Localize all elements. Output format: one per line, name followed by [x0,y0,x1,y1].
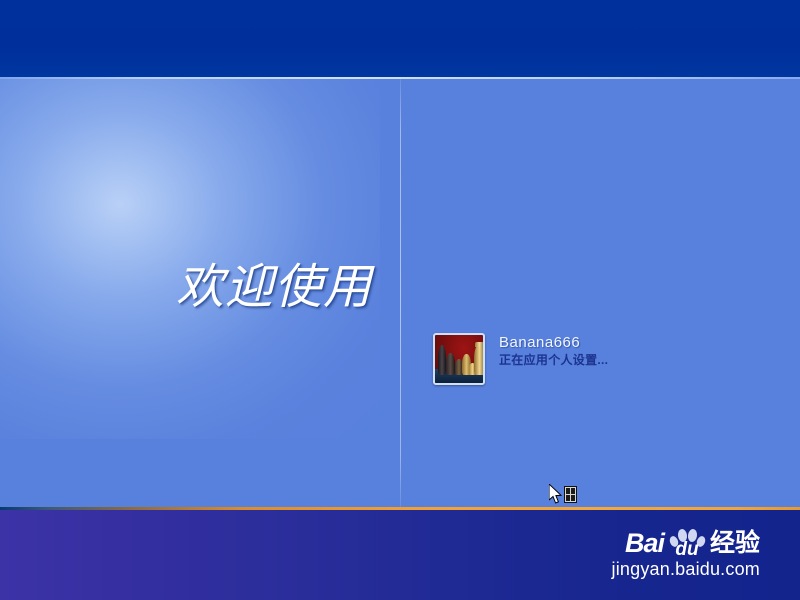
user-text-block: Banana666 正在应用个人设置... [499,333,608,367]
vertical-divider-line [400,79,401,507]
watermark-url: jingyan.baidu.com [612,559,761,579]
top-band [0,0,800,77]
watermark-brand-mark: du [674,541,700,558]
watermark-logo-row: Bai du 经验 [612,528,761,558]
user-status-label: 正在应用个人设置... [499,353,608,367]
user-avatar[interactable] [433,333,485,385]
chess-piece-icon [438,345,446,375]
watermark-brand-latin: Bai [625,530,664,557]
chess-piece-icon [474,344,485,375]
baidu-watermark: Bai du 经验 jingyan.baidu.com [612,528,761,579]
chess-king-crown-icon [475,342,484,347]
welcome-heading: 欢迎使用 [0,259,390,317]
chess-piece-icon [446,353,455,375]
user-name-label: Banana666 [499,334,608,351]
watermark-brand-cn: 经验 [710,530,760,556]
logon-desktop-area: 欢迎使用 Banana666 正在应用个人设置... [0,79,800,507]
baidu-paw-icon: du [666,528,706,558]
logon-user-entry[interactable]: Banana666 正在应用个人设置... [433,333,608,385]
welcome-screen: 欢迎使用 Banana666 正在应用个人设置... [0,0,800,600]
